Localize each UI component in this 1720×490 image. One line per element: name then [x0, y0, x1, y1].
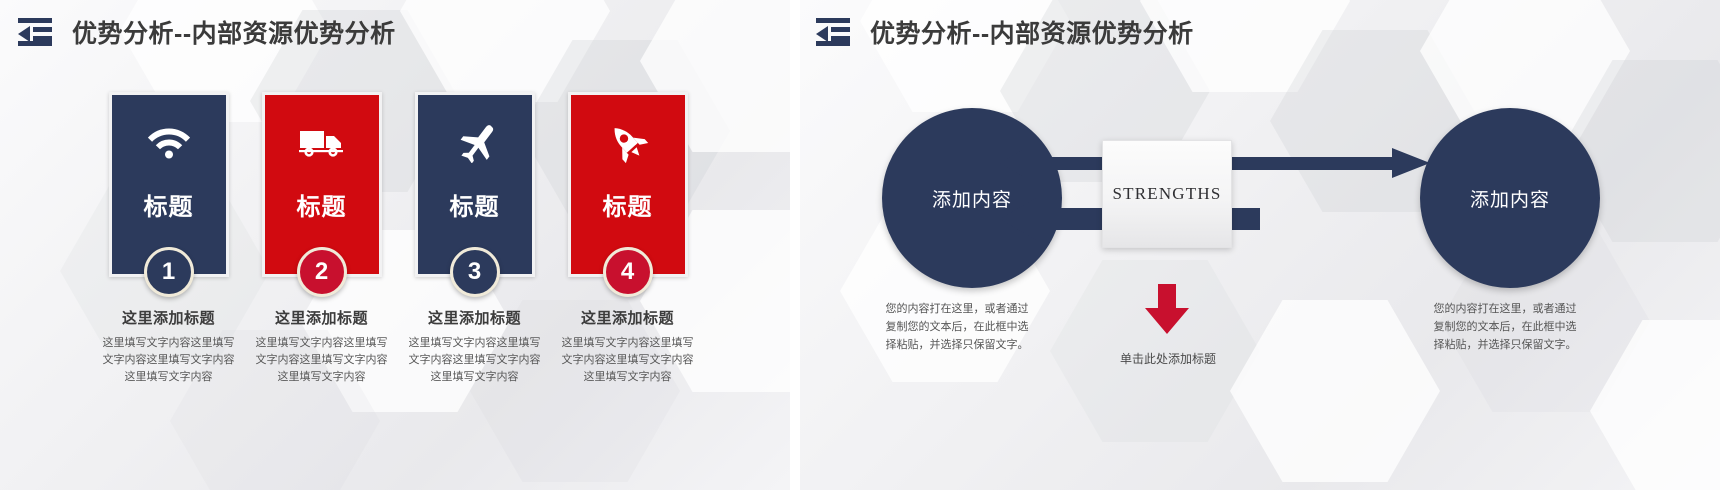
feature-column: 标题 3 这里添加标题 这里填写文字内容这里填写文字内容这里填写文字内容这里填写…	[402, 92, 547, 277]
feature-column: 标题 1 这里添加标题 这里填写文字内容这里填写文字内容这里填写文字内容这里填写…	[96, 92, 241, 277]
slide-left: 优势分析--内部资源优势分析 标题 1 这里添加	[0, 0, 790, 490]
card-number-badge: 2	[297, 247, 347, 297]
truck-icon	[295, 121, 349, 165]
right-content-circle[interactable]: 添加内容	[1420, 108, 1600, 288]
feature-column: 标题 4 这里添加标题 这里填写文字内容这里填写文字内容这里填写文字内容这里填写…	[555, 92, 700, 277]
card-title: 标题	[450, 187, 500, 222]
card-caption: 这里添加标题 这里填写文字内容这里填写文字内容这里填写文字内容这里填写文字内容	[555, 307, 700, 386]
slide-right: 优势分析--内部资源优势分析 添加内容	[800, 0, 1720, 490]
card-number-badge: 3	[450, 247, 500, 297]
card-caption: 这里添加标题 这里填写文字内容这里填写文字内容这里填写文字内容这里填写文字内容	[249, 307, 394, 386]
arrow-right-icon	[1230, 148, 1430, 192]
caption-body: 这里填写文字内容这里填写文字内容这里填写文字内容这里填写文字内容	[249, 335, 394, 386]
airplane-icon	[448, 121, 502, 165]
caption-body: 这里填写文字内容这里填写文字内容这里填写文字内容这里填写文字内容	[96, 335, 241, 386]
feature-card[interactable]: 标题 2	[262, 92, 382, 277]
caption-body: 这里填写文字内容这里填写文字内容这里填写文字内容这里填写文字内容	[555, 335, 700, 386]
right-circle-label: 添加内容	[1470, 185, 1550, 212]
strengths-diagram: 添加内容 添加内容 STRENGTHS 单击此处添加标题 您的内容打在这里，或者…	[800, 0, 1720, 490]
feature-card[interactable]: 标题 3	[415, 92, 535, 277]
arrow-down-icon	[1145, 284, 1189, 339]
card-title: 标题	[144, 187, 194, 222]
strengths-label: STRENGTHS	[1112, 184, 1221, 204]
card-number-badge: 4	[603, 247, 653, 297]
feature-card[interactable]: 标题 1	[109, 92, 229, 277]
caption-body: 这里填写文字内容这里填写文字内容这里填写文字内容这里填写文字内容	[402, 335, 547, 386]
bottom-title-label: 单击此处添加标题	[1068, 350, 1268, 367]
feature-card[interactable]: 标题 4	[568, 92, 688, 277]
slide-divider	[790, 0, 800, 490]
card-caption: 这里添加标题 这里填写文字内容这里填写文字内容这里填写文字内容这里填写文字内容	[402, 307, 547, 386]
page-title: 优势分析--内部资源优势分析	[72, 14, 396, 50]
feature-column: 标题 2 这里添加标题 这里填写文字内容这里填写文字内容这里填写文字内容这里填写…	[249, 92, 394, 277]
caption-title: 这里添加标题	[402, 307, 547, 328]
rocket-icon	[601, 121, 655, 165]
card-title: 标题	[603, 187, 653, 222]
wifi-icon	[142, 121, 196, 165]
left-caption: 您的内容打在这里，或者通过复制您的文本后，在此框中选择粘贴，并选择只保留文字。	[882, 300, 1032, 354]
card-caption: 这里添加标题 这里填写文字内容这里填写文字内容这里填写文字内容这里填写文字内容	[96, 307, 241, 386]
slide-header: 优势分析--内部资源优势分析	[18, 14, 396, 50]
card-number-badge: 1	[144, 247, 194, 297]
right-caption: 您的内容打在这里，或者通过复制您的文本后，在此框中选择粘贴，并选择只保留文字。	[1430, 300, 1580, 354]
caption-title: 这里添加标题	[96, 307, 241, 328]
slide-deck: 优势分析--内部资源优势分析 标题 1 这里添加	[0, 0, 1720, 490]
collapse-menu-icon	[18, 17, 52, 47]
strengths-box[interactable]: STRENGTHS	[1102, 140, 1232, 248]
feature-card-group: 标题 1 这里添加标题 这里填写文字内容这里填写文字内容这里填写文字内容这里填写…	[96, 92, 700, 277]
card-title: 标题	[297, 187, 347, 222]
caption-title: 这里添加标题	[249, 307, 394, 328]
caption-title: 这里添加标题	[555, 307, 700, 328]
